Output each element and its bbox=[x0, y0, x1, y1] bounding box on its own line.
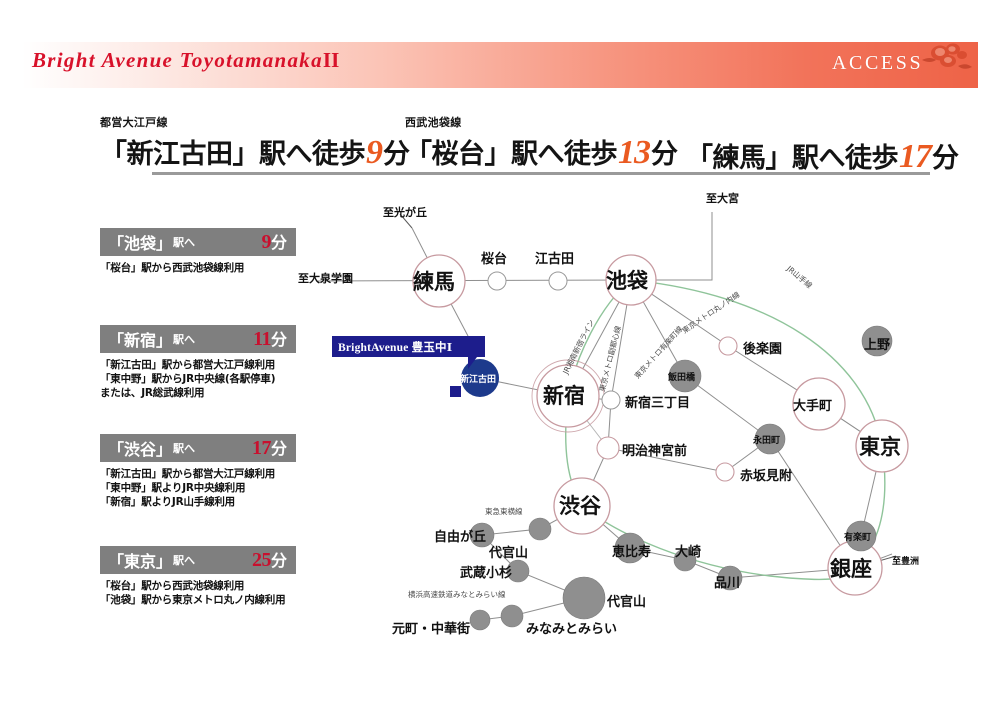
panel-notes-0: 「桜台」駅から西武池袋線利用 bbox=[100, 261, 296, 275]
station-label-ikebukuro: 池袋 bbox=[606, 265, 648, 295]
station-label-korakuen: 後楽園 bbox=[743, 338, 782, 357]
station-label-shinjuku: 新宿 bbox=[543, 380, 585, 410]
headline-main-2: 「練馬」駅へ徒歩17分 bbox=[686, 136, 959, 176]
station-label-jiyugaoka: 自由が丘 bbox=[434, 526, 486, 545]
station-label-akasaka-mitsuke: 赤坂見附 bbox=[740, 465, 792, 484]
station-label-iidabashi: 飯田橋 bbox=[668, 370, 695, 383]
panel-time-0: 9分 bbox=[261, 229, 287, 254]
headline-group-2: 「練馬」駅へ徒歩17分 bbox=[686, 136, 959, 176]
panel-header-bar-0: 「池袋」 駅へ 9分 bbox=[100, 228, 296, 256]
panel-station-2: 「渋谷」 bbox=[108, 436, 172, 460]
route-map-lines bbox=[300, 186, 990, 656]
station-label-daikanyama-2: 代官山 bbox=[607, 591, 646, 610]
station-label-minatomirai: みなみとみらい bbox=[526, 618, 617, 637]
panel-note: 「東中野」駅からJR中央線(各駅停車) bbox=[100, 372, 296, 386]
panel-suffix-2: 駅へ bbox=[173, 440, 195, 456]
page-title-numeral: II bbox=[323, 48, 339, 72]
access-panel-shibuya: 「渋谷」 駅へ 17分 「新江古田」駅から都営大江戸線利用 「東中野」駅よりJR… bbox=[100, 434, 296, 509]
panel-time-1: 11分 bbox=[253, 326, 287, 351]
station-label-motomachi-chukagai: 元町・中華街 bbox=[392, 618, 470, 637]
line-label-minatomirai: 横浜高速鉄道みなとみらい線 bbox=[408, 589, 506, 600]
panel-notes-2: 「新江古田」駅から都営大江戸線利用 「東中野」駅よりJR中央線利用 「新宿」駅よ… bbox=[100, 467, 296, 509]
station-label-sakuradai: 桜台 bbox=[481, 248, 507, 267]
station-label-meiji-jingumae: 明治神宮前 bbox=[622, 440, 687, 459]
headline-prefix-2: 「練馬」駅へ徒歩 bbox=[686, 143, 898, 174]
panel-unit-0: 分 bbox=[271, 233, 287, 252]
terminal-label: 至大泉学園 bbox=[298, 270, 353, 286]
panel-note: 「東中野」駅よりJR中央線利用 bbox=[100, 481, 296, 495]
panel-time-2: 17分 bbox=[252, 435, 287, 460]
page-title-text: Bright Avenue Toyotamanaka bbox=[32, 48, 323, 72]
panel-note: 「桜台」駅から西武池袋線利用 bbox=[100, 261, 296, 275]
access-panel-tokyo: 「東京」 駅へ 25分 「桜台」駅から西武池袋線利用 「池袋」駅から東京メトロ丸… bbox=[100, 546, 296, 607]
panel-note: 「新江古田」駅から都営大江戸線利用 bbox=[100, 358, 296, 372]
headline-block: 都営大江戸線 「新江古田」駅へ徒歩9分 西武池袋線 「桜台」駅へ徒歩13分 「練… bbox=[100, 114, 930, 174]
station-label-shibuya: 渋谷 bbox=[559, 490, 601, 520]
headline-minutes-0: 9 bbox=[365, 134, 383, 171]
panel-station-0: 「池袋」 bbox=[108, 230, 172, 254]
access-panel-ikebukuro: 「池袋」 駅へ 9分 「桜台」駅から西武池袋線利用 bbox=[100, 228, 296, 275]
access-panel-shinjuku: 「新宿」 駅へ 11分 「新江古田」駅から都営大江戸線利用 「東中野」駅からJR… bbox=[100, 325, 296, 400]
station-label-yurakucho: 有楽町 bbox=[844, 530, 871, 543]
station-label-otemachi: 大手町 bbox=[793, 395, 832, 414]
panel-minutes-2: 17 bbox=[252, 437, 271, 459]
panel-suffix-0: 駅へ bbox=[173, 234, 195, 250]
site-callout-tail bbox=[468, 357, 477, 369]
terminal-label: 至大宮 bbox=[706, 190, 739, 206]
station-label-musashi-kosugi: 武蔵小杉 bbox=[460, 562, 512, 581]
panel-suffix-1: 駅へ bbox=[173, 331, 195, 347]
headline-line-name-0: 都営大江戸線 bbox=[100, 114, 410, 130]
station-label-shin-egota: 新江古田 bbox=[460, 372, 496, 385]
station-label-nerima: 練馬 bbox=[413, 266, 455, 296]
panel-unit-2: 分 bbox=[271, 439, 287, 458]
headline-main-0: 「新江古田」駅へ徒歩9分 bbox=[100, 132, 410, 172]
panel-note: または、JR総武線利用 bbox=[100, 386, 296, 400]
site-position-marker bbox=[450, 386, 461, 397]
station-label-daikanyama: 代官山 bbox=[489, 542, 528, 561]
headline-unit-1: 分 bbox=[651, 139, 678, 170]
headline-unit-2: 分 bbox=[932, 143, 959, 174]
station-label-ekoda: 江古田 bbox=[535, 248, 574, 267]
panel-header-bar-1: 「新宿」 駅へ 11分 bbox=[100, 325, 296, 353]
panel-unit-3: 分 bbox=[271, 551, 287, 570]
headline-divider bbox=[152, 172, 930, 175]
route-map: 至光が丘 至大泉学園 至大宮 至豊洲 練馬 桜台 江古田 池袋 新江古田 新宿 … bbox=[300, 186, 990, 656]
headline-group-1: 西武池袋線 「桜台」駅へ徒歩13分 bbox=[405, 114, 678, 172]
headline-line-name-1: 西武池袋線 bbox=[405, 114, 678, 130]
panel-station-1: 「新宿」 bbox=[108, 327, 172, 351]
station-label-shinagawa: 品川 bbox=[714, 572, 740, 591]
terminal-label: 至豊洲 bbox=[892, 554, 919, 567]
panel-unit-1: 分 bbox=[271, 330, 287, 349]
page-title: Bright Avenue ToyotamanakaII bbox=[32, 48, 339, 73]
panel-time-3: 25分 bbox=[252, 547, 287, 572]
headline-minutes-1: 13 bbox=[617, 134, 651, 171]
panel-note: 「池袋」駅から東京メトロ丸ノ内線利用 bbox=[100, 593, 296, 607]
station-label-nagatacho: 永田町 bbox=[753, 433, 780, 446]
panel-minutes-0: 9 bbox=[261, 231, 271, 253]
panel-note: 「桜台」駅から西武池袋線利用 bbox=[100, 579, 296, 593]
station-label-osaki: 大崎 bbox=[675, 541, 701, 560]
station-label-ueno: 上野 bbox=[864, 334, 890, 353]
panel-note: 「新江古田」駅から都営大江戸線利用 bbox=[100, 467, 296, 481]
panel-note: 「新宿」駅よりJR山手線利用 bbox=[100, 495, 296, 509]
station-label-ginza: 銀座 bbox=[830, 553, 872, 583]
section-label: ACCESS bbox=[832, 52, 923, 75]
station-label-ebisu: 恵比寿 bbox=[612, 541, 651, 560]
panel-station-3: 「東京」 bbox=[108, 548, 172, 572]
headline-minutes-2: 17 bbox=[898, 138, 932, 175]
panel-notes-3: 「桜台」駅から西武池袋線利用 「池袋」駅から東京メトロ丸ノ内線利用 bbox=[100, 579, 296, 607]
station-label-tokyo: 東京 bbox=[859, 431, 901, 461]
panel-notes-1: 「新江古田」駅から都営大江戸線利用 「東中野」駅からJR中央線(各駅停車) また… bbox=[100, 358, 296, 400]
site-callout-label: BrightAvenue 豊玉中Ⅰ bbox=[338, 339, 452, 355]
rose-icon bbox=[918, 40, 974, 78]
line-label-toyoko: 東急東横線 bbox=[485, 506, 523, 517]
panel-minutes-3: 25 bbox=[252, 549, 271, 571]
headline-prefix-1: 「桜台」駅へ徒歩 bbox=[405, 139, 617, 170]
headline-prefix-0: 「新江古田」駅へ徒歩 bbox=[100, 139, 365, 170]
headline-main-1: 「桜台」駅へ徒歩13分 bbox=[405, 132, 678, 172]
access-page: Bright Avenue ToyotamanakaII ACCESS 都営大江… bbox=[0, 0, 1000, 706]
panel-minutes-1: 11 bbox=[253, 328, 271, 350]
terminal-label: 至光が丘 bbox=[383, 204, 427, 220]
panel-header-bar-2: 「渋谷」 駅へ 17分 bbox=[100, 434, 296, 462]
panel-header-bar-3: 「東京」 駅へ 25分 bbox=[100, 546, 296, 574]
panel-suffix-3: 駅へ bbox=[173, 552, 195, 568]
station-label-shinjuku-sanchome: 新宿三丁目 bbox=[625, 392, 690, 411]
headline-group-0: 都営大江戸線 「新江古田」駅へ徒歩9分 bbox=[100, 114, 410, 172]
